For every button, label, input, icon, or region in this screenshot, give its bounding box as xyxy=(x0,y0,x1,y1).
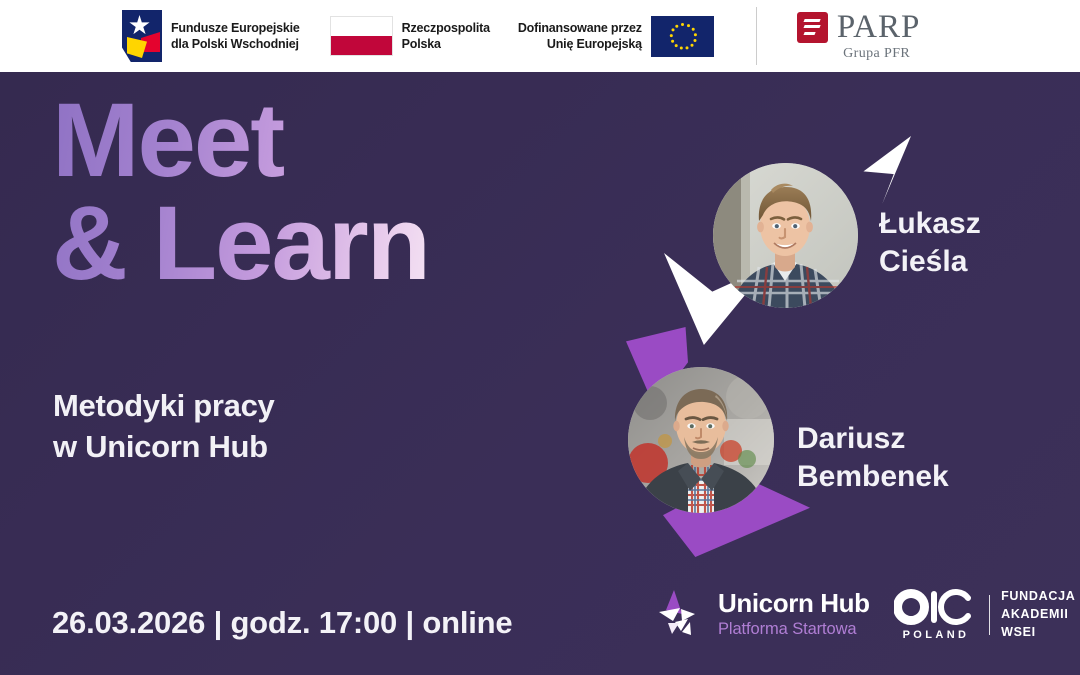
avatar-lukasz-ciesla xyxy=(713,163,858,308)
page-subtitle: Metodyki pracyw Unicorn Hub xyxy=(53,385,275,467)
speaker-1-first-name: Łukasz xyxy=(879,207,981,240)
polish-flag-icon xyxy=(330,16,393,56)
republic-of-poland-logo: RzeczpospolitaPolska xyxy=(330,16,490,56)
republic-line2: Polska xyxy=(402,37,441,51)
eu-cofunded-line2: Unię Europejską xyxy=(547,37,642,51)
oic-foundation-text: FUNDACJAAKADEMIIWSEI xyxy=(1001,588,1075,641)
funding-logo-bar: Fundusze Europejskiedla Polski Wschodnie… xyxy=(0,0,1080,72)
parp-logo-row: PARP xyxy=(797,11,921,44)
star-shape-icon xyxy=(129,15,150,36)
republic-line1: Rzeczpospolita xyxy=(402,21,490,35)
unicorn-hub-text: Unicorn Hub Platforma Startowa xyxy=(718,590,870,640)
avatar-dariusz-bembenek xyxy=(628,367,774,513)
oic-divider xyxy=(989,595,991,635)
eu-funds-flag-icon xyxy=(122,10,162,62)
speaker-1-last-name: Cieśla xyxy=(879,245,967,278)
eu-funds-line2: dla Polski Wschodniej xyxy=(171,37,299,51)
eu-cofunded-label: Dofinansowane przezUnię Europejską xyxy=(518,20,642,53)
european-union-flag-icon xyxy=(651,16,714,57)
parp-bar-3 xyxy=(803,32,815,35)
speaker-2-name: DariuszBembenek xyxy=(797,420,949,497)
oic-foundation-line3: WSEI xyxy=(1001,625,1036,639)
svg-text:POLAND: POLAND xyxy=(902,629,969,641)
parp-logo-icon xyxy=(797,12,828,43)
parp-bar-1 xyxy=(803,19,820,22)
speaker-2-last-name: Bembenek xyxy=(797,460,949,493)
parp-bar-2 xyxy=(803,25,820,28)
page-title: Meet& Learn xyxy=(52,90,429,296)
speaker-1-name: ŁukaszCieśla xyxy=(879,205,981,282)
republic-label: RzeczpospolitaPolska xyxy=(402,20,490,53)
unicorn-hub-logo-icon xyxy=(655,588,709,642)
eu-cofunded-logo: Dofinansowane przezUnię Europejską xyxy=(518,16,714,57)
subtitle-line-2: w Unicorn Hub xyxy=(53,429,268,464)
speaker-2-first-name: Dariusz xyxy=(797,422,905,455)
flag-white-band xyxy=(331,17,392,36)
eu-funds-logo: Fundusze Europejskiedla Polski Wschodnie… xyxy=(122,10,300,62)
eu-funds-line1: Fundusze Europejskie xyxy=(171,21,300,35)
webinar-poster: Fundusze Europejskiedla Polski Wschodnie… xyxy=(0,0,1080,675)
oic-foundation-line1: FUNDACJA xyxy=(1001,589,1075,603)
headline-line-1: Meet xyxy=(52,82,283,199)
parp-wordmark: PARP xyxy=(837,11,921,44)
unicorn-hub-title: Unicorn Hub xyxy=(718,590,870,616)
event-details: 26.03.2026 | godz. 17:00 | online xyxy=(52,605,512,641)
flag-red-band xyxy=(331,36,392,55)
parp-logo: PARP Grupa PFR xyxy=(797,11,921,62)
oic-poland-logo-icon: POLAND xyxy=(894,588,978,642)
eu-funds-label: Fundusze Europejskiedla Polski Wschodnie… xyxy=(171,20,300,53)
logo-divider xyxy=(756,7,757,65)
unicorn-hub-subtitle: Platforma Startowa xyxy=(718,619,870,640)
partner-logos: Unicorn Hub Platforma Startowa POLAND FU… xyxy=(655,588,1075,642)
subtitle-line-1: Metodyki pracy xyxy=(53,388,275,423)
unicorn-hub-logo: Unicorn Hub Platforma Startowa xyxy=(655,588,870,642)
oic-poland-logo: POLAND FUNDACJAAKADEMIIWSEI xyxy=(894,588,1076,642)
oic-foundation-line2: AKADEMII xyxy=(1001,607,1068,621)
eu-cofunded-line1: Dofinansowane przez xyxy=(518,21,642,35)
parp-subtitle: Grupa PFR xyxy=(797,46,921,62)
headline-line-2: & Learn xyxy=(52,185,429,302)
